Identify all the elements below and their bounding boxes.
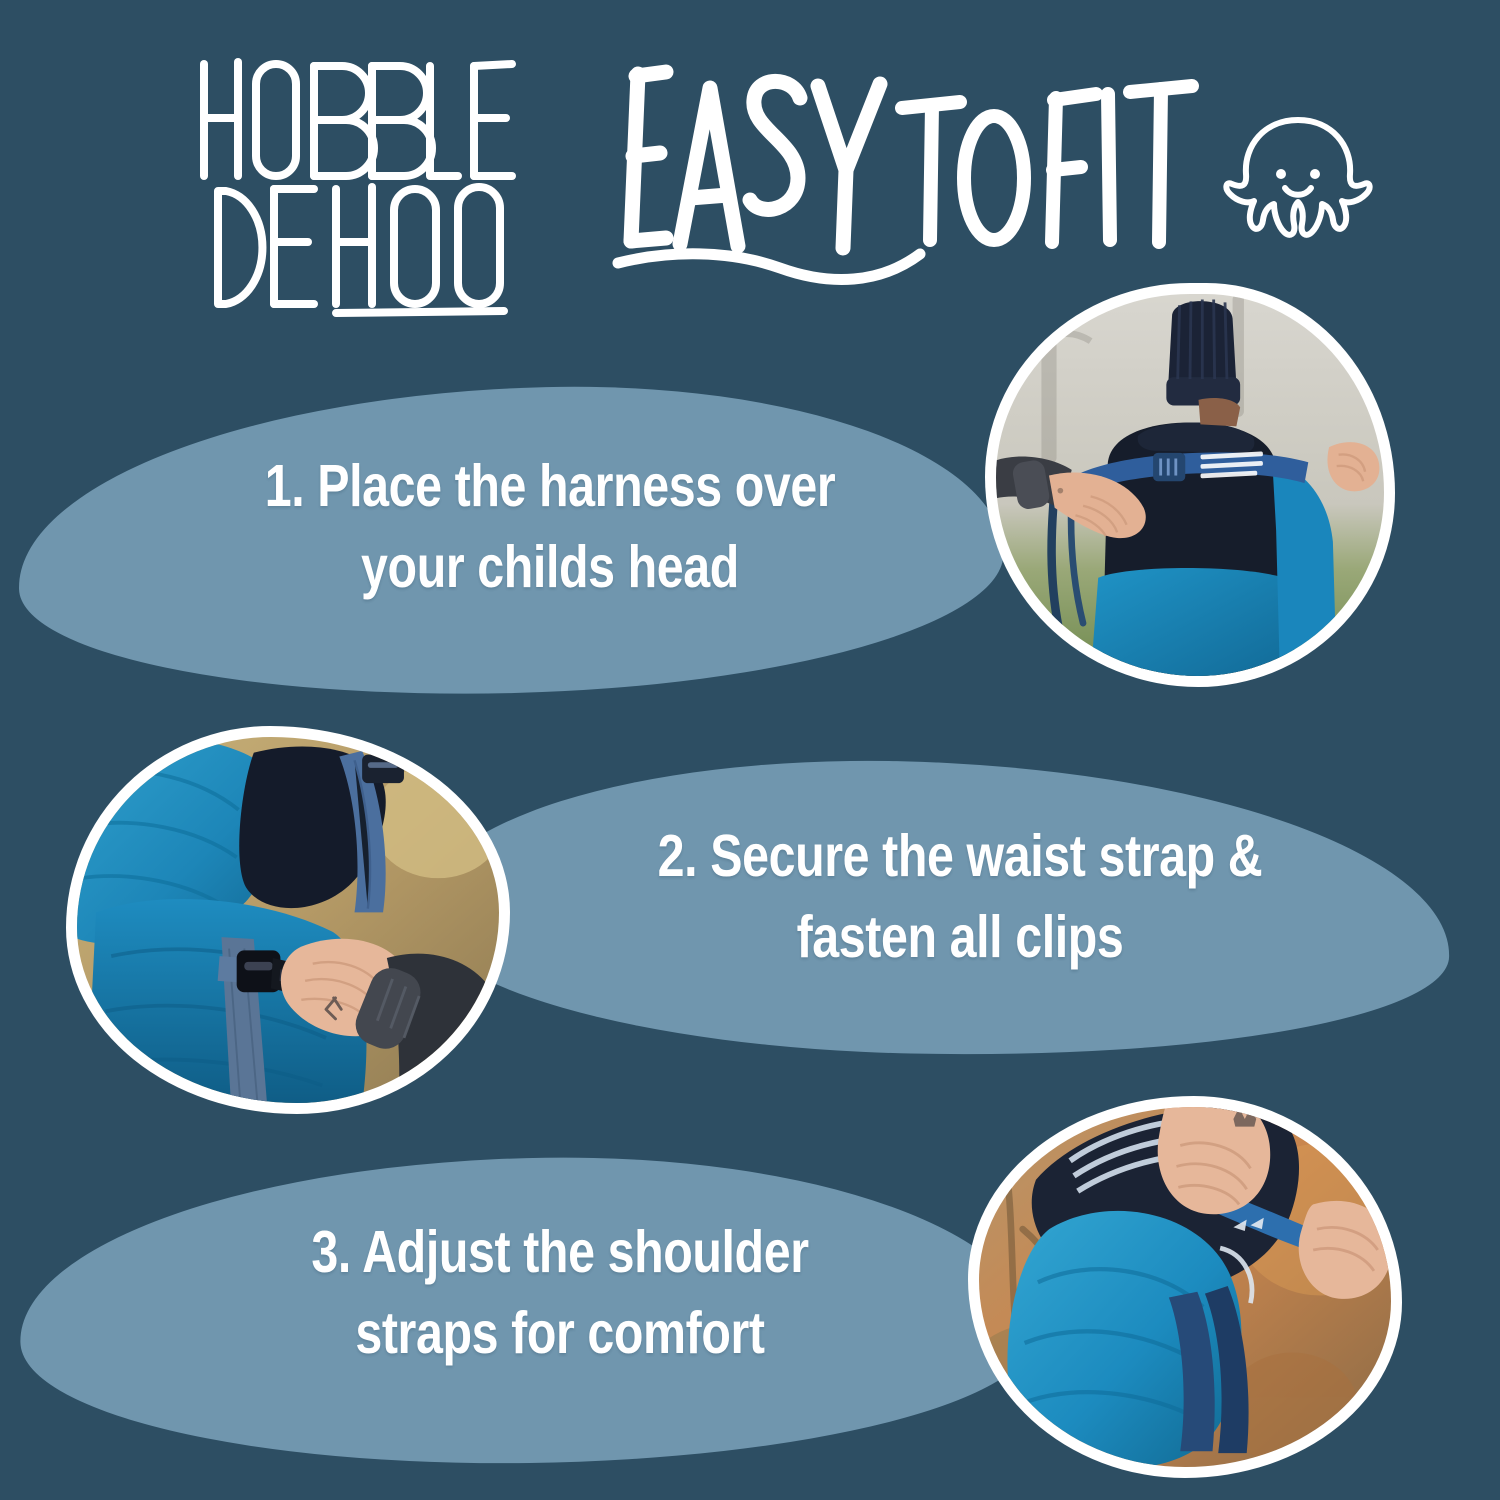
photo-step-3 (968, 1096, 1402, 1478)
octopus-eye-right (1310, 169, 1320, 179)
photo-step-1 (985, 283, 1395, 687)
brand-underline (336, 311, 504, 313)
infographic-poster: 1. Place the harness over your childs he… (0, 0, 1500, 1500)
step-2-text: 2. Secure the waist strap & fasten all c… (599, 816, 1321, 979)
headline-swoosh (618, 254, 920, 280)
photo-step-2 (66, 726, 510, 1114)
headline (600, 58, 1220, 288)
brand-logo (196, 56, 526, 311)
step-3-text: 3. Adjust the shoulder straps for comfor… (199, 1212, 921, 1375)
octopus-smile (1285, 188, 1311, 195)
step-1-text: 1. Place the harness over your childs he… (189, 446, 911, 609)
octopus-icon (1218, 112, 1378, 242)
octopus-eye-left (1276, 169, 1286, 179)
